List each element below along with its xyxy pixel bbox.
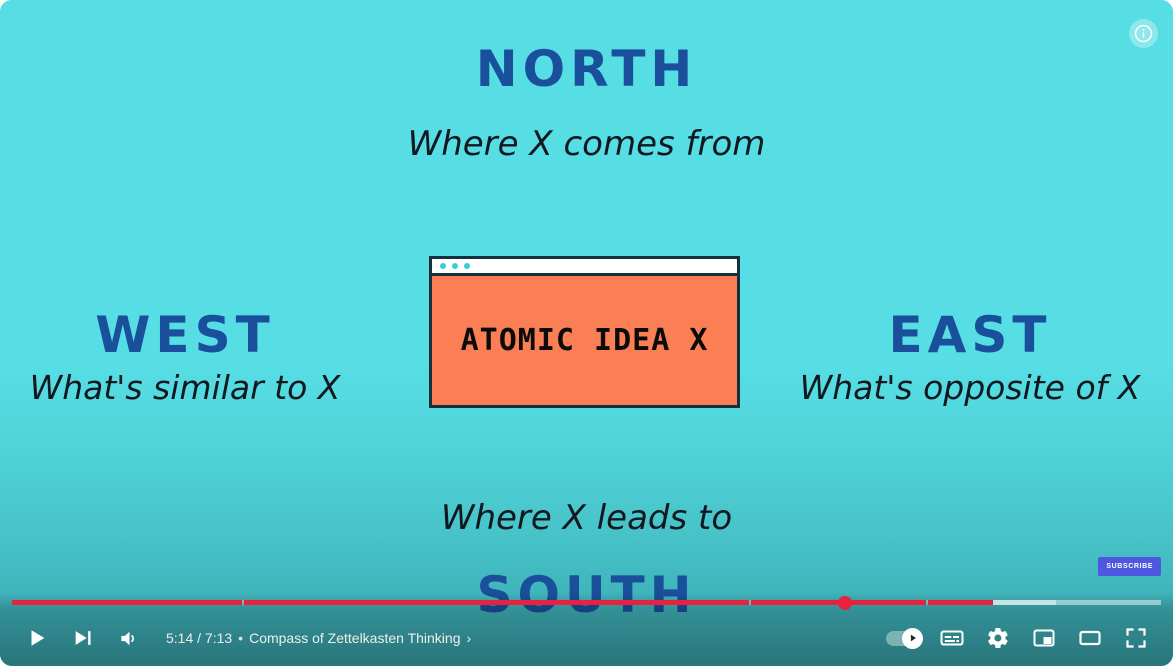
chapter-played-fill bbox=[12, 600, 242, 605]
progress-chapter-segment[interactable] bbox=[244, 600, 749, 605]
volume-icon[interactable] bbox=[106, 615, 152, 661]
chapter-played-fill bbox=[928, 600, 993, 605]
video-player[interactable]: NORTH Where X comes from WEST What's sim… bbox=[0, 0, 1173, 666]
compass-subtitle-north: Where X comes from bbox=[0, 124, 1173, 164]
card-body: ATOMIC IDEA X bbox=[432, 276, 737, 405]
play-icon[interactable] bbox=[14, 615, 60, 661]
compass-subtitle-west: What's similar to X bbox=[20, 368, 350, 407]
separator: • bbox=[238, 630, 243, 646]
chapter-title[interactable]: Compass of Zettelkasten Thinking bbox=[249, 630, 460, 646]
compass-label-north: NORTH bbox=[0, 40, 1173, 98]
chapter-played-fill bbox=[244, 600, 749, 605]
compass-subtitle-south: Where X leads to bbox=[0, 498, 1173, 538]
progress-scrubber-handle[interactable] bbox=[838, 596, 852, 610]
fullscreen-icon[interactable] bbox=[1113, 615, 1159, 661]
card-dot-icon bbox=[440, 263, 446, 269]
compass-label-east: EAST bbox=[820, 306, 1120, 364]
compass-label-west: WEST bbox=[30, 306, 340, 364]
progress-chapter-segment[interactable] bbox=[928, 600, 1161, 605]
time-and-chapter-display: 5:14 / 7:13 • Compass of Zettelkasten Th… bbox=[152, 630, 471, 646]
progress-chapter-segment[interactable] bbox=[12, 600, 242, 605]
progress-bar[interactable] bbox=[12, 600, 1161, 605]
card-text: ATOMIC IDEA X bbox=[461, 323, 709, 358]
card-titlebar bbox=[432, 259, 737, 276]
subtitles-icon[interactable] bbox=[929, 615, 975, 661]
right-controls bbox=[877, 615, 1173, 661]
time-display: 5:14 / 7:13 bbox=[166, 630, 232, 646]
atomic-idea-card: ATOMIC IDEA X bbox=[429, 256, 740, 408]
theater-mode-icon[interactable] bbox=[1067, 615, 1113, 661]
autoplay-toggle-icon[interactable] bbox=[877, 615, 929, 661]
player-control-bar[interactable]: 5:14 / 7:13 • Compass of Zettelkasten Th… bbox=[0, 592, 1173, 666]
compass-subtitle-east: What's opposite of X bbox=[795, 368, 1145, 407]
card-dot-icon bbox=[464, 263, 470, 269]
next-video-icon[interactable] bbox=[60, 615, 106, 661]
settings-gear-icon[interactable] bbox=[975, 615, 1021, 661]
subscribe-button[interactable]: SUBSCRIBE bbox=[1098, 557, 1161, 576]
progress-track[interactable] bbox=[12, 600, 1161, 605]
chevron-right-icon[interactable]: › bbox=[466, 630, 471, 646]
video-surface[interactable]: NORTH Where X comes from WEST What's sim… bbox=[0, 0, 1173, 666]
left-controls: 5:14 / 7:13 • Compass of Zettelkasten Th… bbox=[0, 615, 471, 661]
miniplayer-icon[interactable] bbox=[1021, 615, 1067, 661]
control-buttons-row: 5:14 / 7:13 • Compass of Zettelkasten Th… bbox=[0, 614, 1173, 662]
info-icon[interactable] bbox=[1129, 19, 1158, 48]
card-dot-icon bbox=[452, 263, 458, 269]
